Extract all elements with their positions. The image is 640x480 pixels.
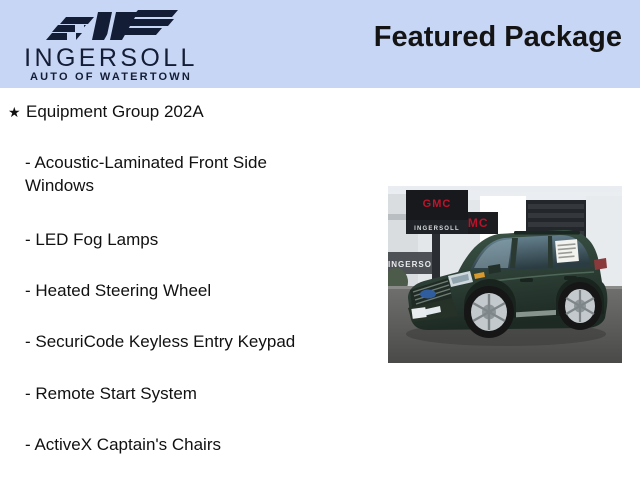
feature-text: - LED Fog Lamps (25, 228, 325, 251)
feature-item-primary: ★Equipment Group 202A (0, 100, 378, 124)
feature-item-sub: - Acoustic-Laminated Front Side Windows (0, 151, 395, 197)
winged-flag-emblem-icon (42, 6, 184, 46)
star-bullet-icon: ★ (8, 100, 26, 124)
feature-text: - Remote Start System (25, 382, 325, 405)
page-title: Featured Package (374, 20, 622, 55)
dealer-brand-logo: INGERSOLL AUTO OF WATERTOWN (6, 4, 216, 86)
svg-text:GMC: GMC (423, 198, 452, 210)
dealer-tagline: AUTO OF WATERTOWN (6, 72, 216, 83)
dealer-name: INGERSOLL (6, 46, 216, 71)
feature-item-sub: - Heated Steering Wheel (0, 279, 395, 302)
feature-item-sub: - ActiveX Captain's Chairs (0, 433, 395, 456)
feature-item-sub: - SecuriCode Keyless Entry Keypad (0, 330, 395, 353)
vehicle-photo: GMC GMC INGERSOLL INGERSO (388, 186, 622, 363)
feature-text: - Heated Steering Wheel (25, 279, 325, 302)
feature-text: - ActiveX Captain's Chairs (25, 433, 325, 456)
svg-text:INGERSO: INGERSO (388, 260, 432, 269)
feature-item-sub: - Remote Start System (0, 382, 395, 405)
header-band: INGERSOLL AUTO OF WATERTOWN Featured Pac… (0, 0, 640, 88)
feature-item-sub: - LED Fog Lamps (0, 228, 395, 251)
feature-text: - SecuriCode Keyless Entry Keypad (25, 330, 325, 353)
feature-text: Equipment Group 202A (26, 100, 204, 124)
feature-text: - Acoustic-Laminated Front Side Windows (25, 151, 325, 197)
svg-text:INGERSOLL: INGERSOLL (414, 226, 460, 232)
